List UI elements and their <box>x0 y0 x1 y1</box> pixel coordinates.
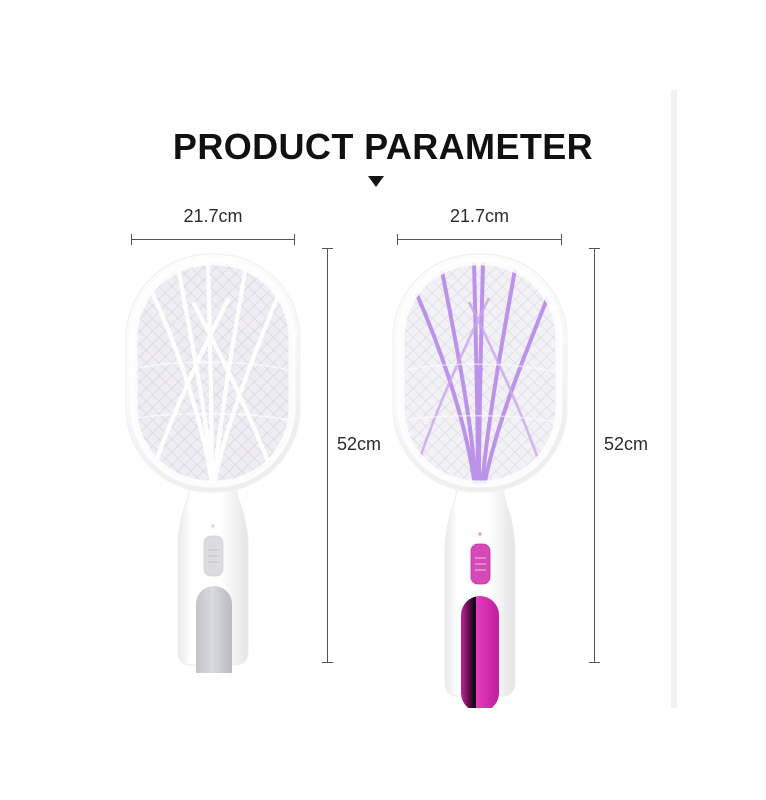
triangle-down-icon <box>368 176 384 187</box>
dimension-cap-left <box>397 234 398 245</box>
page-title: PRODUCT PARAMETER <box>0 126 766 168</box>
dimension-cap-left <box>131 234 132 245</box>
dimension-cap-bottom <box>589 662 600 663</box>
product-parameter-page: PRODUCT PARAMETER <box>0 0 766 800</box>
dimension-cap-bottom <box>322 662 333 663</box>
dimension-cap-right <box>561 234 562 245</box>
product-image-mosquito-swatter-white <box>108 248 318 673</box>
dimension-label-height-right: 52cm <box>604 434 648 455</box>
dimension-label-width-right: 21.7cm <box>397 206 562 227</box>
dimension-cap-top <box>322 248 333 249</box>
dimension-cap-top <box>589 248 600 249</box>
dimension-cap-right <box>294 234 295 245</box>
dimension-line-height-right <box>594 248 595 663</box>
right-edge-stripe <box>671 90 677 708</box>
dimension-label-width-left: 21.7cm <box>131 206 295 227</box>
dimension-line-width-left <box>131 239 295 240</box>
dimension-line-height-left <box>327 248 328 663</box>
product-image-mosquito-swatter-purple <box>375 248 585 708</box>
dimension-line-width-right <box>397 239 562 240</box>
